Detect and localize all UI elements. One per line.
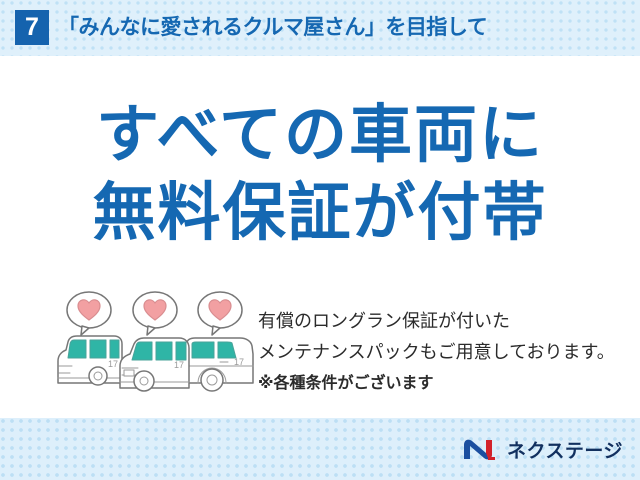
headline-line-2: 無料保証が付帯 bbox=[0, 174, 640, 252]
nexstage-n-logo-icon bbox=[462, 437, 500, 467]
heart-bubble-2 bbox=[133, 292, 177, 335]
car-minivan-middle: 17 bbox=[120, 338, 189, 391]
section-number-badge: 7 bbox=[15, 10, 49, 45]
header-title: 「みんなに愛されるクルマ屋さん」を目指して bbox=[58, 13, 487, 42]
svg-text:17: 17 bbox=[174, 360, 184, 370]
brand-lockup: ネクステージ bbox=[462, 439, 623, 465]
heart-bubble-3 bbox=[198, 292, 242, 335]
car-kei-left: 17 bbox=[58, 336, 122, 385]
svg-text:17: 17 bbox=[234, 357, 244, 367]
headline-line-1: すべての車両に bbox=[0, 96, 640, 174]
page-title: すべての車両に 無料保証が付帯 bbox=[0, 96, 640, 252]
body-disclaimer: ※各種条件がございます bbox=[258, 368, 636, 399]
heart-bubble-1 bbox=[67, 292, 111, 335]
three-cars-illustration: 17 17 bbox=[48, 288, 258, 406]
body-line-2: メンテナンスパックもご用意しております。 bbox=[258, 337, 636, 368]
cars-svg: 17 17 bbox=[48, 288, 258, 406]
body-line-1: 有償のロングラン保証が付いた bbox=[258, 306, 636, 337]
brand-name: ネクステージ bbox=[507, 441, 623, 463]
car-suv-right: 17 bbox=[187, 338, 253, 391]
slide-canvas: 7 「みんなに愛されるクルマ屋さん」を目指して すべての車両に 無料保証が付帯 bbox=[0, 0, 640, 480]
body-copy: 有償のロングラン保証が付いた メンテナンスパックもご用意しております。 ※各種条… bbox=[258, 306, 636, 399]
svg-text:17: 17 bbox=[108, 359, 118, 369]
